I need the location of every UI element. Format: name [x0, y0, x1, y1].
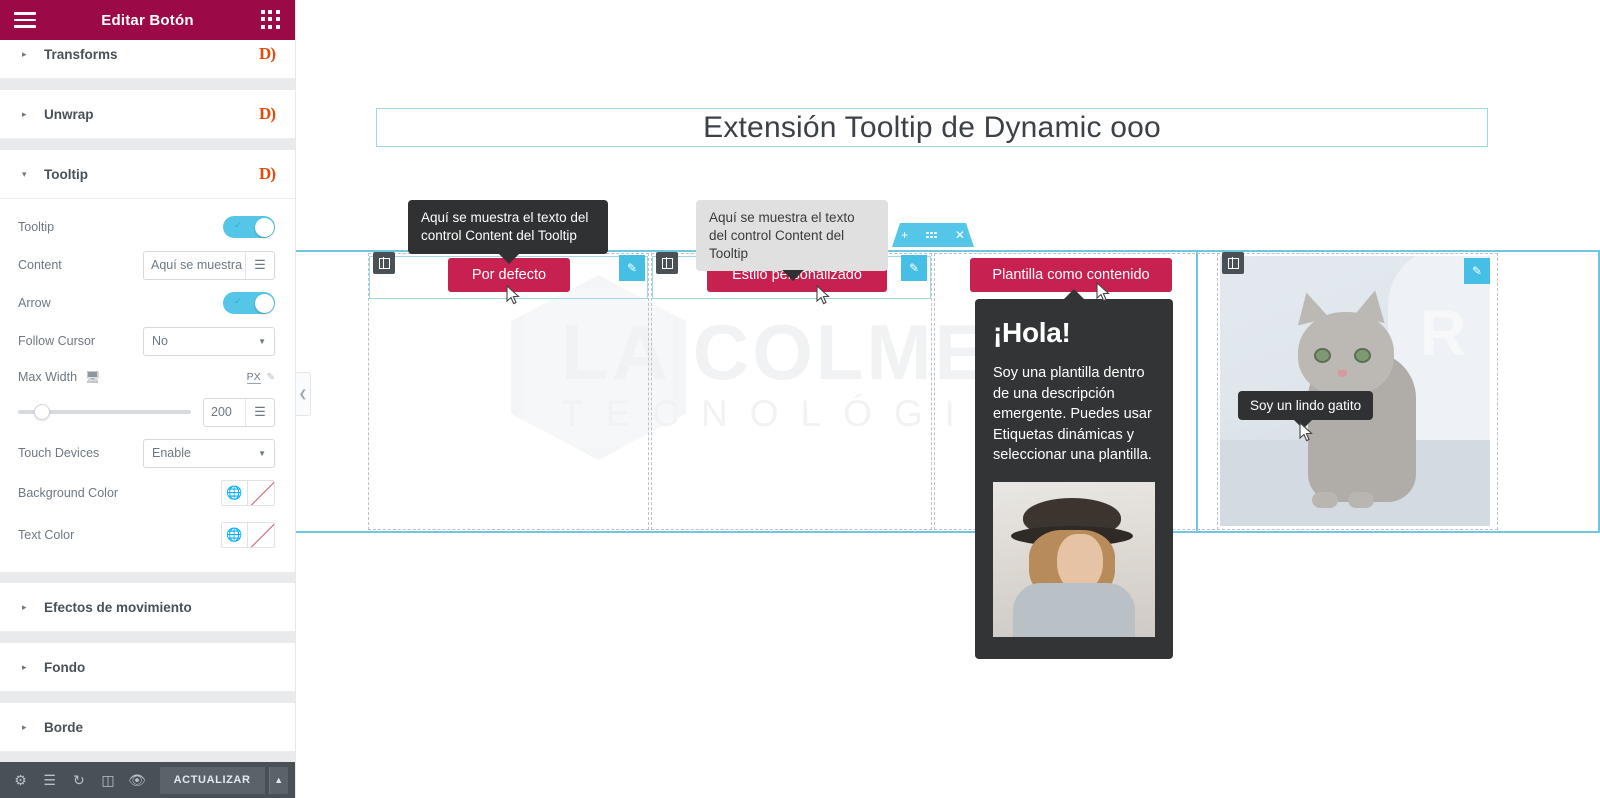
check-icon: ✓ — [234, 296, 242, 307]
control-label: Follow Cursor — [18, 334, 143, 348]
template-tooltip-image — [993, 482, 1155, 637]
control-label: Text Color — [18, 528, 221, 542]
column-2-handle[interactable] — [656, 252, 678, 274]
tooltip-toggle-switch[interactable]: ✓ — [223, 216, 275, 238]
section-divider — [0, 79, 295, 90]
sidebar-item-unwrap[interactable]: ▸ Unwrap D) — [0, 90, 295, 139]
tooltip-text: Aquí se muestra el texto del control Con… — [709, 210, 855, 261]
title-widget[interactable]: Extensión Tooltip de Dynamic ooo — [376, 108, 1488, 147]
dynamic-badge[interactable]: D) — [259, 104, 275, 124]
dynamic-badge[interactable]: D) — [259, 44, 275, 64]
button-label: Por defecto — [472, 267, 546, 283]
sidebar-item-label: Borde — [44, 720, 275, 735]
chevron-down-icon: ▼ — [258, 337, 266, 346]
layers-icon[interactable]: ☰ — [37, 762, 62, 798]
tooltip-template: ¡Hola! Soy una plantilla dentro de una d… — [975, 299, 1173, 659]
tooltip-kitten: Soy un lindo gatito — [1238, 391, 1373, 420]
column-1-edit-icon[interactable]: ✎ — [619, 255, 645, 281]
drag-handle-icon[interactable] — [926, 232, 936, 238]
arrow-toggle-switch[interactable]: ✓ — [223, 292, 275, 314]
chevron-down-icon: ▾ — [22, 169, 30, 180]
grid-icon[interactable] — [261, 10, 281, 30]
edit-unit-icon[interactable]: ✎ — [267, 372, 275, 383]
panel-body: ▸ Reveal D) ▸ Transforms D) ▸ Unwrap D) … — [0, 40, 295, 798]
chevron-up-icon[interactable]: ▲ — [269, 767, 288, 794]
max-width-slider-row: 200 ☰ — [0, 394, 295, 430]
editor-panel: Editar Botón ▸ Reveal D) ▸ Transforms D)… — [0, 0, 296, 798]
update-button[interactable]: ACTUALIZAR — [160, 767, 265, 794]
column-4-edit-icon[interactable]: ✎ — [1464, 258, 1490, 284]
touch-devices-value: Enable — [152, 446, 191, 460]
control-label: Background Color — [18, 486, 221, 500]
responsive-icon[interactable]: ◫ — [95, 762, 120, 798]
text-color-swatch[interactable] — [248, 522, 275, 548]
watermark-r: R — [1420, 296, 1466, 370]
section-divider — [0, 139, 295, 150]
dynamic-tags-icon[interactable]: ☰ — [245, 399, 274, 426]
chevron-right-icon: ▸ — [22, 109, 30, 120]
control-max-width: Max Width 🖥 PX ✎ — [0, 360, 295, 394]
template-tooltip-body: Soy una plantilla dentro de una descripc… — [993, 363, 1155, 466]
global-color-icon[interactable]: 🌐 — [221, 522, 248, 548]
desktop-icon[interactable]: 🖥 — [85, 370, 100, 384]
tooltip-arrow — [782, 270, 804, 281]
history-icon[interactable]: ↻ — [66, 762, 91, 798]
tooltip-arrow — [1063, 289, 1085, 300]
panel-header: Editar Botón — [0, 0, 295, 40]
chevron-right-icon: ▸ — [22, 662, 30, 673]
column-4-handle[interactable] — [1222, 252, 1244, 274]
section-toolbar: + ✕ — [892, 223, 974, 247]
max-width-input[interactable]: 200 ☰ — [203, 398, 275, 427]
toggle-knob — [255, 218, 274, 237]
tooltip-text: Aquí se muestra el texto del control Con… — [421, 210, 588, 243]
sidebar-item-fondo[interactable]: ▸ Fondo — [0, 643, 295, 692]
dynamic-tags-icon[interactable]: ☰ — [245, 252, 274, 279]
sidebar-item-borde[interactable]: ▸ Borde — [0, 703, 295, 752]
touch-devices-select[interactable]: Enable ▼ — [143, 439, 275, 468]
dynamic-badge[interactable]: D) — [259, 164, 275, 184]
page-heading: Extensión Tooltip de Dynamic ooo — [703, 111, 1161, 145]
hamburger-icon[interactable] — [14, 12, 36, 28]
slider-knob[interactable] — [34, 404, 50, 420]
column-1-handle[interactable] — [373, 252, 395, 274]
eye-icon[interactable]: 👁 — [125, 762, 150, 798]
follow-cursor-select[interactable]: No ▼ — [143, 327, 275, 356]
max-width-label: Max Width — [18, 370, 77, 384]
button-label: Plantilla como contenido — [992, 267, 1149, 283]
max-width-slider[interactable] — [18, 410, 191, 414]
column-2[interactable] — [651, 253, 932, 530]
section-divider — [0, 692, 295, 703]
content-input-value: Aquí se muestra e — [144, 258, 245, 272]
sidebar-item-label: Fondo — [44, 660, 275, 675]
tooltip-text: Soy un lindo gatito — [1250, 398, 1361, 413]
sidebar-item-tooltip[interactable]: ▾ Tooltip D) — [0, 150, 295, 199]
control-label: Max Width 🖥 — [18, 370, 247, 384]
add-section-icon[interactable]: + — [901, 229, 908, 241]
tooltip-arrow — [1294, 420, 1312, 429]
control-arrow-toggle: Arrow ✓ — [0, 284, 295, 322]
sidebar-item-transforms[interactable]: ▸ Transforms D) — [0, 40, 295, 79]
global-color-icon[interactable]: 🌐 — [221, 480, 248, 506]
control-label: Tooltip — [18, 220, 223, 234]
button-plantilla-como-contenido[interactable]: Plantilla como contenido — [970, 258, 1172, 292]
chevron-right-icon: ▸ — [22, 49, 30, 60]
follow-cursor-value: No — [152, 334, 168, 348]
control-background-color: Background Color 🌐 — [0, 472, 295, 514]
tooltip-custom-style: Aquí se muestra el texto del control Con… — [696, 200, 888, 271]
close-icon[interactable]: ✕ — [955, 229, 965, 241]
sidebar-item-label: Transforms — [44, 47, 259, 62]
editor-canvas: LA COLMENA TECNOLÓGICA Extensión Tooltip… — [296, 0, 1600, 798]
chevron-right-icon: ▸ — [22, 722, 30, 733]
gear-icon[interactable]: ⚙ — [8, 762, 33, 798]
control-label: Arrow — [18, 296, 223, 310]
max-width-value: 200 — [204, 405, 245, 419]
panel-collapse-handle[interactable]: ❮ — [296, 372, 311, 416]
control-tooltip-toggle: Tooltip ✓ — [0, 208, 295, 246]
unit-px[interactable]: PX — [247, 371, 261, 384]
page-title: Editar Botón — [0, 12, 295, 29]
column-2-edit-icon[interactable]: ✎ — [901, 255, 927, 281]
template-tooltip-title: ¡Hola! — [993, 317, 1155, 349]
column-1[interactable] — [368, 253, 649, 530]
chevron-down-icon: ▼ — [258, 449, 266, 458]
control-content: Content Aquí se muestra e ☰ — [0, 246, 295, 284]
control-label: Touch Devices — [18, 446, 143, 460]
check-icon: ✓ — [234, 220, 242, 231]
control-text-color: Text Color 🌐 — [0, 514, 295, 556]
background-color-swatch[interactable] — [248, 480, 275, 506]
control-label: Content — [18, 258, 143, 272]
section-divider — [0, 632, 295, 643]
section-divider — [0, 572, 295, 583]
chevron-right-icon: ▸ — [22, 602, 30, 613]
sidebar-item-label: Tooltip — [44, 167, 259, 182]
panel-footer: ⚙ ☰ ↻ ◫ 👁 ACTUALIZAR ▲ — [0, 762, 296, 798]
content-input[interactable]: Aquí se muestra e ☰ — [143, 251, 275, 280]
toggle-knob — [255, 294, 274, 313]
control-follow-cursor: Follow Cursor No ▼ — [0, 322, 295, 360]
sidebar-item-efectos-de-movimiento[interactable]: ▸ Efectos de movimiento — [0, 583, 295, 632]
control-touch-devices: Touch Devices Enable ▼ — [0, 434, 295, 472]
tooltip-arrow — [498, 253, 520, 264]
sidebar-item-label: Efectos de movimiento — [44, 600, 275, 615]
sidebar-item-label: Unwrap — [44, 107, 259, 122]
tooltip-default: Aquí se muestra el texto del control Con… — [408, 200, 608, 254]
